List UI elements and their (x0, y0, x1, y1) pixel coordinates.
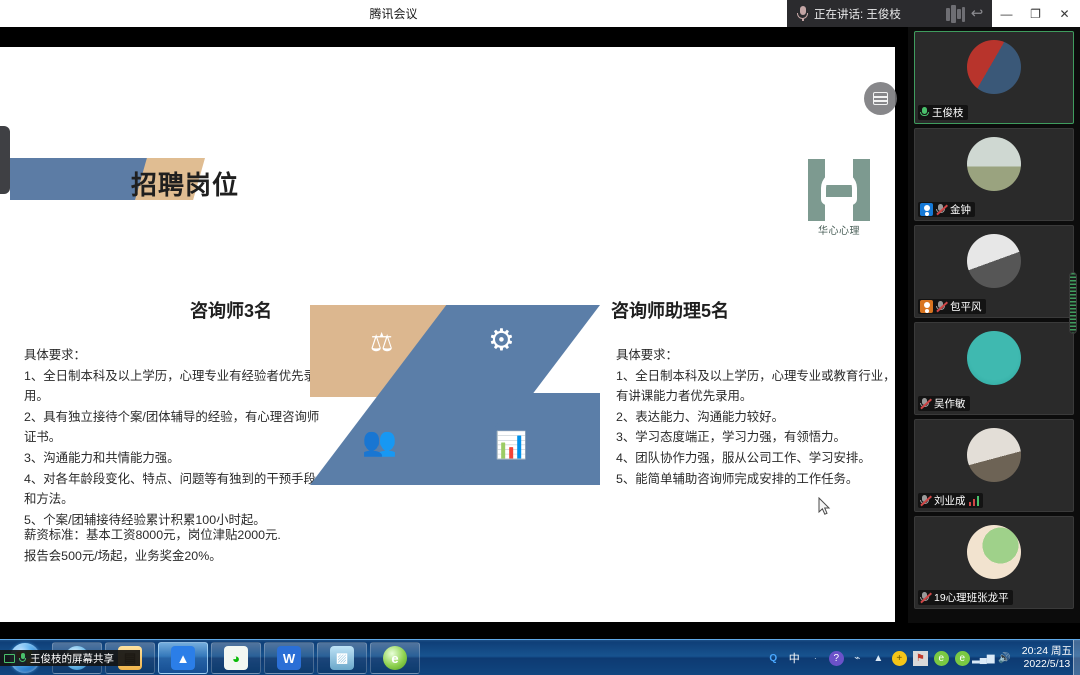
left-column-heading: 咨询师3名 (190, 297, 272, 323)
presentation-slide: 招聘岗位 华心心理 咨询师3名 咨询师助理5名 具体要求： 1、全日制本科及以上… (0, 47, 895, 622)
avatar (967, 40, 1021, 94)
salary-line-2: 报告会500元/场起，业务奖金20%。 (24, 546, 344, 567)
presenter-share-label: 王俊枝的屏幕共享 (30, 651, 114, 666)
layout-window-icon[interactable] (864, 82, 897, 115)
taskbar-wechat[interactable]: ◕ (211, 642, 261, 674)
back-arrow-icon[interactable]: ↩ (968, 5, 986, 22)
logo-text: 华心心理 (808, 222, 870, 237)
salary-line-1: 薪资标准：基本工资8000元，岗位津贴2000元. (24, 525, 344, 546)
right-item-5: 5、能简单辅助咨询师完成安排的工作任务。 (616, 469, 895, 490)
window-titlebar: 腾讯会议 正在讲话: 王俊枝 ↩ — ❐ ✕ (0, 0, 1080, 27)
right-column-requirements: 具体要求： 1、全日制本科及以上学历，心理专业或教育行业，有讲课能力者优先录用。… (616, 345, 895, 489)
participant-tile-1[interactable]: 金钟 (914, 128, 1074, 221)
taskbar-360-browser[interactable]: e (370, 642, 420, 674)
browser-icon-1[interactable]: e (934, 651, 949, 666)
active-speaker-label: 正在讲话: 王俊枝 (814, 6, 901, 22)
taskbar-tencent-meeting[interactable]: ▲ (158, 642, 208, 674)
microphone-icon (797, 6, 808, 21)
browser-icon-2[interactable]: e (955, 651, 970, 666)
left-intro: 具体要求： (24, 345, 324, 366)
participant-tile-5[interactable]: 19心理班张龙平 (914, 516, 1074, 609)
ime-dot-icon[interactable]: · (808, 651, 823, 666)
participant-nameline-2: 包平风 (918, 299, 986, 314)
windows-taskbar: e ▤ ▲ ◕ W ▨ e Q 中 · ? ⌁ ▲ + ⚑ e e ▂▄▆ 🔊 … (0, 639, 1080, 675)
help-icon[interactable]: ? (829, 651, 844, 666)
participant-name-2: 包平风 (950, 299, 982, 314)
clock-date: 2022/5/13 (1022, 658, 1072, 671)
mic-on-icon (920, 107, 929, 119)
clock-time: 20:24 周五 (1022, 645, 1072, 658)
participant-tile-0[interactable]: 王俊枝 (914, 31, 1074, 124)
up-arrow-icon[interactable]: ▲ (871, 651, 886, 666)
left-column-requirements: 具体要求： 1、全日制本科及以上学历，心理专业有经验者优先录用。 2、具有独立接… (24, 345, 324, 530)
mic-off-icon (920, 495, 931, 507)
participant-name-1: 金钟 (950, 202, 971, 217)
participant-nameline-1: 金钟 (918, 202, 975, 217)
mic-off-icon (936, 204, 947, 216)
window-controls: — ❐ ✕ (992, 0, 1080, 27)
left-item-4: 4、对各年龄段变化、特点、问题等有独到的干预手段和方法。 (24, 469, 324, 510)
right-intro: 具体要求： (616, 345, 895, 366)
system-tray: Q 中 · ? ⌁ ▲ + ⚑ e e ▂▄▆ 🔊 20:24 周五 2022/… (766, 642, 1078, 674)
network-icon[interactable]: ⌁ (850, 651, 865, 666)
mic-off-icon (920, 398, 931, 410)
volume-icon[interactable]: 🔊 (997, 651, 1012, 666)
participant-name-4: 刘业成 (934, 493, 966, 508)
signal-bars-icon (969, 496, 980, 506)
participant-tile-4[interactable]: 刘业成 (914, 419, 1074, 512)
mic-off-icon (920, 592, 931, 604)
avatar (967, 234, 1021, 288)
minimize-button[interactable]: — (992, 0, 1021, 27)
participant-tile-2[interactable]: 包平风 (914, 225, 1074, 318)
qq-icon[interactable]: Q (766, 651, 781, 666)
avatar (967, 137, 1021, 191)
microphone-icon (19, 653, 26, 663)
vertical-scrollbar[interactable] (1069, 272, 1077, 334)
show-desktop-button[interactable] (1073, 640, 1080, 675)
company-logo: 华心心理 (808, 159, 870, 241)
left-item-3: 3、沟通能力和共情能力强。 (24, 448, 324, 469)
participant-panel: 王俊枝 金钟 包平风 吴作敏 (908, 27, 1080, 623)
flag-icon[interactable]: ⚑ (913, 651, 928, 666)
participant-nameline-3: 吴作敏 (918, 396, 970, 411)
x-shape-infographic: ⚖ ⚙ 👥 📊 (310, 305, 600, 485)
signal-icon[interactable]: ▂▄▆ (976, 651, 991, 666)
mic-off-icon (936, 301, 947, 313)
presenter-share-strip: 王俊枝的屏幕共享 (0, 650, 140, 666)
right-item-3: 3、学习态度端正，学习力强，有领悟力。 (616, 427, 895, 448)
security-plus-icon[interactable]: + (892, 651, 907, 666)
handshake-icon: ⚖ (370, 327, 393, 358)
right-column-heading: 咨询师助理5名 (611, 297, 729, 323)
maximize-button[interactable]: ❐ (1021, 0, 1050, 27)
right-item-2: 2、表达能力、沟通能力较好。 (616, 407, 895, 428)
participant-nameline-5: 19心理班张龙平 (918, 590, 1013, 605)
ime-chinese-icon[interactable]: 中 (787, 651, 802, 666)
avatar (967, 331, 1021, 385)
participant-name-5: 19心理班张龙平 (934, 590, 1009, 605)
participant-name-0: 王俊枝 (932, 105, 964, 120)
left-item-1: 1、全日制本科及以上学历，心理专业有经验者优先录用。 (24, 366, 324, 407)
monitor-chart-icon: 📊 (495, 430, 527, 461)
screen-share-icon (4, 654, 15, 663)
participant-tile-3[interactable]: 吴作敏 (914, 322, 1074, 415)
left-item-2: 2、具有独立接待个案/团体辅导的经验，有心理咨询师证书。 (24, 407, 324, 448)
right-item-1: 1、全日制本科及以上学历，心理专业或教育行业，有讲课能力者优先录用。 (616, 366, 895, 407)
participant-name-3: 吴作敏 (934, 396, 966, 411)
right-item-4: 4、团队协作力强，服从公司工作、学习安排。 (616, 448, 895, 469)
avatar (967, 525, 1021, 579)
mouse-pointer-icon (818, 497, 831, 516)
participant-nameline-4: 刘业成 (918, 493, 983, 508)
collapse-handle-icon[interactable] (0, 126, 10, 194)
people-group-icon: 👥 (362, 425, 397, 458)
avatar (967, 428, 1021, 482)
app-title: 腾讯会议 (0, 0, 787, 27)
cohost-badge-icon (920, 300, 933, 313)
shared-screen-area: 招聘岗位 华心心理 咨询师3名 咨询师助理5名 具体要求： 1、全日制本科及以上… (0, 27, 908, 623)
participant-nameline-0: 王俊枝 (918, 105, 968, 120)
taskbar-clock[interactable]: 20:24 周五 2022/5/13 (1018, 645, 1072, 671)
host-badge-icon (920, 203, 933, 216)
gear-person-icon: ⚙ (488, 323, 515, 358)
desktop-root: 腾讯会议 正在讲话: 王俊枝 ↩ — ❐ ✕ 招聘岗位 (0, 0, 1080, 675)
taskbar-wps-office[interactable]: W (264, 642, 314, 674)
salary-block: 薪资标准：基本工资8000元，岗位津贴2000元. 报告会500元/场起，业务奖… (24, 525, 344, 566)
close-button[interactable]: ✕ (1050, 0, 1079, 27)
slide-title: 招聘岗位 (131, 165, 239, 202)
taskbar-photo-viewer[interactable]: ▨ (317, 642, 367, 674)
